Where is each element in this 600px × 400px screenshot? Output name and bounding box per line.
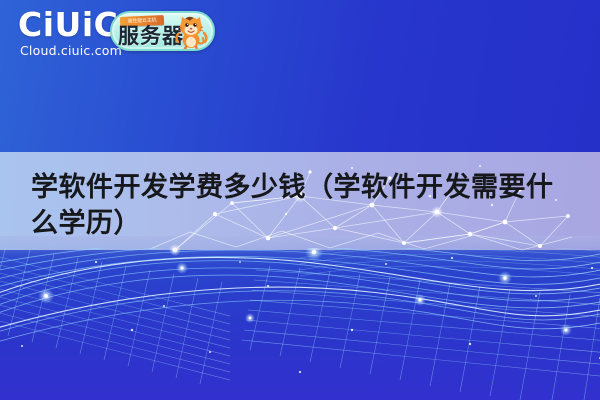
banner-image: CiUiC Cloud.ciuic.com 高性能云主机 服务器 xyxy=(0,0,600,400)
brand-logo[interactable]: CiUiC Cloud.ciuic.com xyxy=(18,8,122,58)
brand-name: CiUiC xyxy=(18,8,118,42)
server-badge[interactable]: 高性能云主机 服务器 xyxy=(110,11,215,51)
brand-domain: Cloud.ciuic.com xyxy=(20,44,122,58)
article-title: 学软件开发学费多少钱（学软件开发需要什么学历） xyxy=(31,170,579,242)
orange-tiger-mascot-icon xyxy=(171,14,211,51)
background-bottom-blue xyxy=(0,250,600,400)
